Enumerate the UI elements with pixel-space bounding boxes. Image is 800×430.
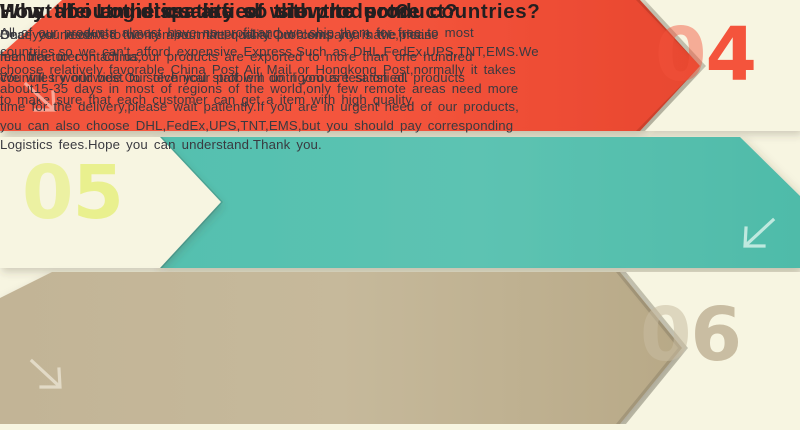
section-band-06: [0, 272, 690, 424]
section-band-05: [150, 137, 800, 268]
number-digit: 6: [691, 292, 742, 378]
answer-body-06: All of our products almost have no profi…: [0, 24, 540, 154]
answer-line: Logistics fees.Hope you can understand.T…: [0, 136, 540, 155]
answer-line: countries,so we can't afford expensive E…: [0, 43, 540, 62]
arrow-down-right-icon: [26, 355, 70, 395]
section-number-05: 05: [22, 156, 123, 230]
section-number-04: 04: [655, 18, 756, 92]
answer-line: you can also choose DHL,FedEx,UPS,TNT,EM…: [0, 117, 540, 136]
number-digit: 0: [655, 12, 706, 98]
number-digit: 4: [706, 12, 757, 98]
answer-line: about15-35 days in most of regions of th…: [0, 80, 540, 99]
number-digit: 0: [640, 292, 691, 378]
section-06: Why the Logistics are so slow to some co…: [0, 0, 540, 154]
number-digit: 0: [22, 150, 73, 236]
question-title-06: Why the Logistics are so slow to some co…: [0, 0, 540, 24]
arrow-down-left-icon: [735, 214, 779, 254]
answer-line: All of our products almost have no profi…: [0, 24, 540, 43]
faq-infographic: How about the quality of the product? De…: [0, 0, 800, 430]
section-number-06: 06: [640, 298, 741, 372]
number-digit: 5: [73, 150, 124, 236]
answer-line: choose relatively favorable China Post A…: [0, 61, 540, 80]
answer-line: time for the delivery,please wait patien…: [0, 98, 540, 117]
